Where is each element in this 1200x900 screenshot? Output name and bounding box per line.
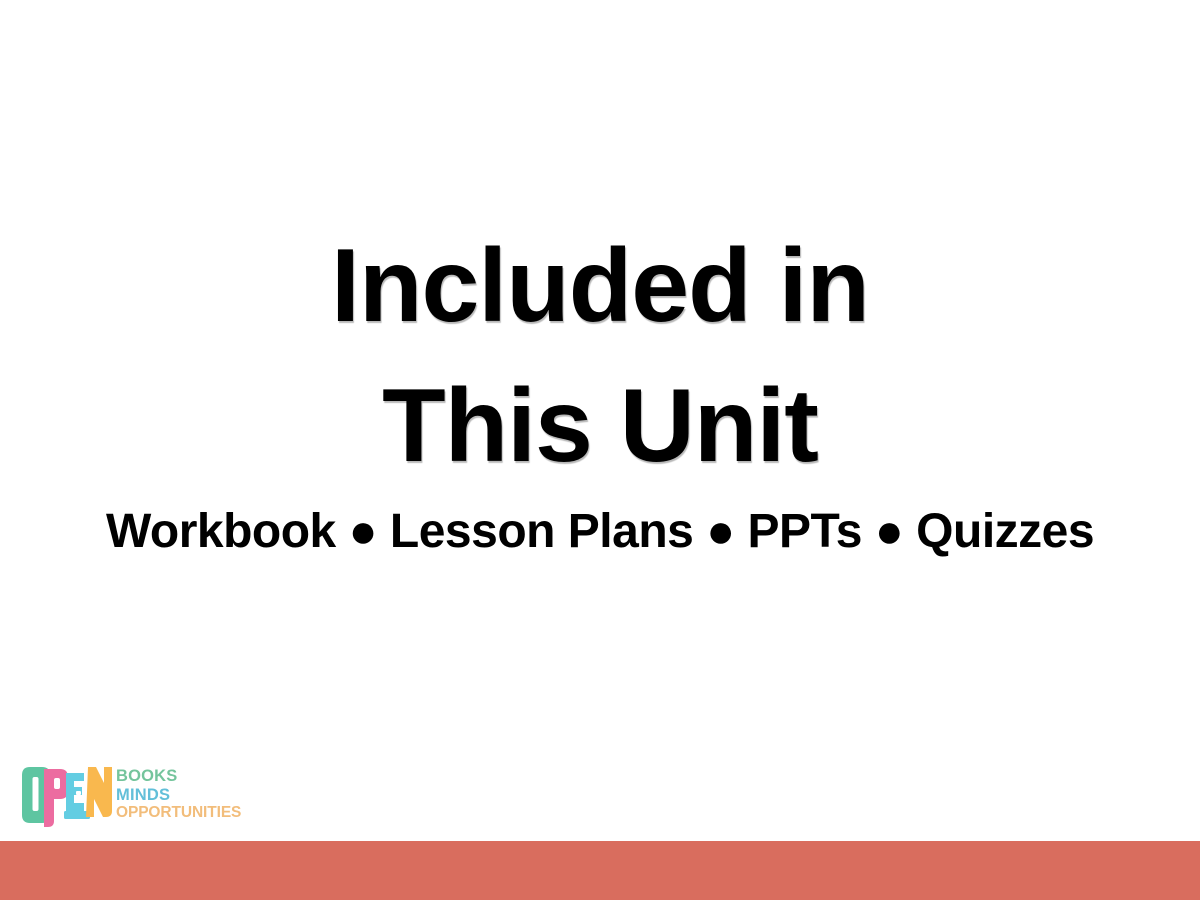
footer-accent-bar (0, 841, 1200, 900)
open-logo-mark-icon (20, 765, 112, 827)
logo-word-opportunities: OPPORTUNITIES (116, 804, 256, 823)
logo-word-books: BOOKS (116, 767, 256, 786)
title-line-1: Included in (0, 216, 1200, 356)
logo-word-minds: MINDS (116, 786, 256, 805)
slide-canvas: Included in This Unit Workbook ● Lesson … (0, 0, 1200, 900)
open-logo: BOOKS MINDS OPPORTUNITIES (20, 765, 250, 829)
page-title: Included in This Unit (0, 216, 1200, 496)
open-logo-wordmark: BOOKS MINDS OPPORTUNITIES (116, 767, 256, 823)
title-line-2: This Unit (0, 356, 1200, 496)
subtitle-text: Workbook ● Lesson Plans ● PPTs ● Quizzes (0, 503, 1200, 561)
